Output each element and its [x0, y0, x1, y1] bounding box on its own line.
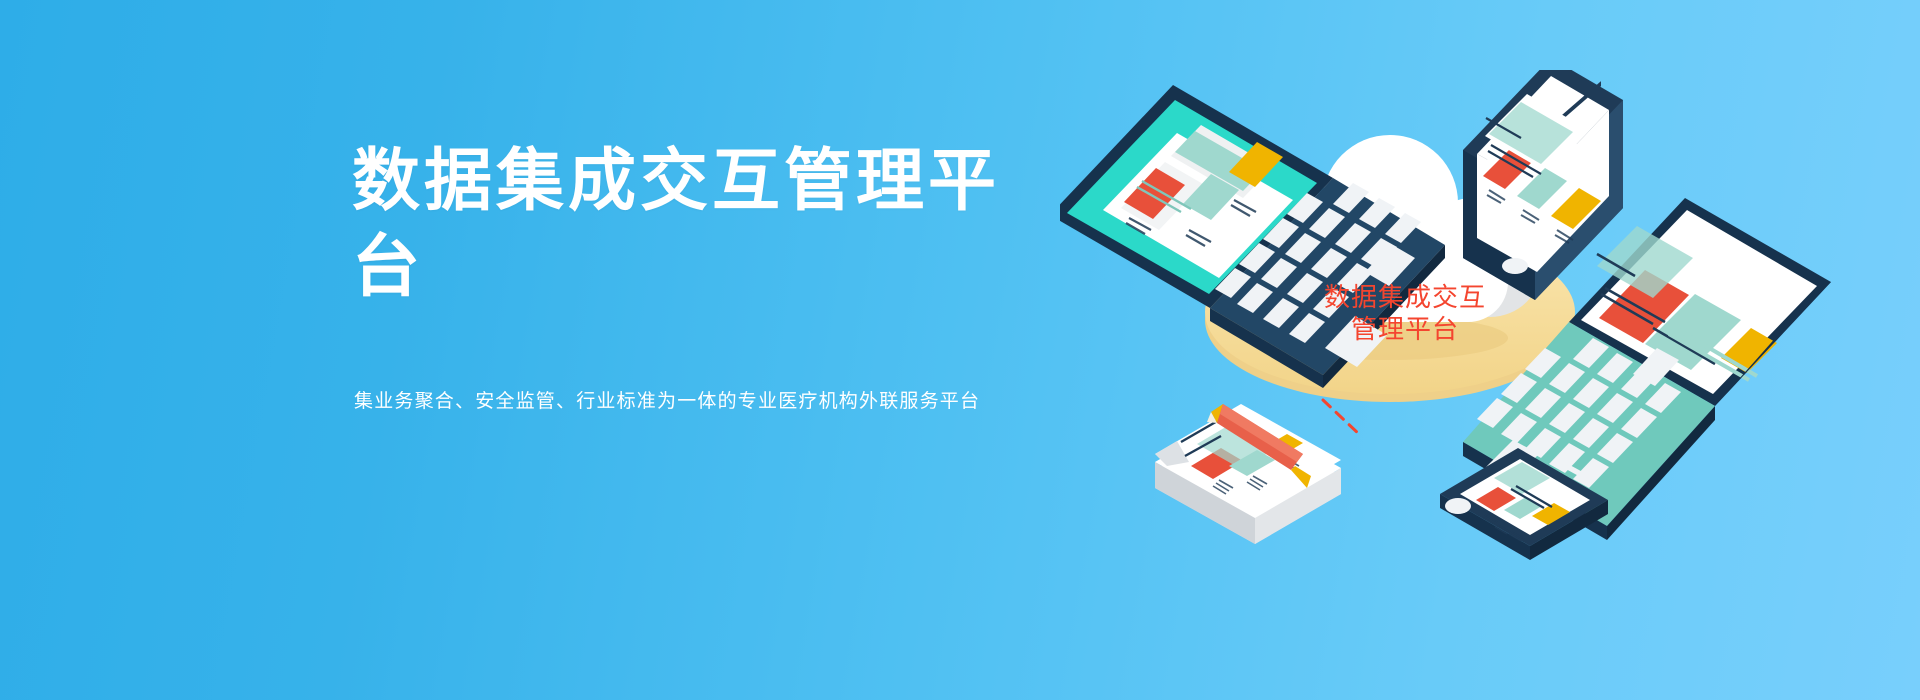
hero-illustration [1060, 70, 1880, 590]
hero-banner: 数据集成交互管理平台 集业务聚合、安全监管、行业标准为一体的专业医疗机构外联服务… [0, 0, 1920, 700]
document-stack [1155, 404, 1341, 544]
page-title: 数据集成交互管理平台 [352, 138, 1002, 310]
page-subtitle: 集业务聚合、安全监管、行业标准为一体的专业医疗机构外联服务平台 [354, 388, 980, 416]
headline-block: 数据集成交互管理平台 [352, 138, 1052, 310]
